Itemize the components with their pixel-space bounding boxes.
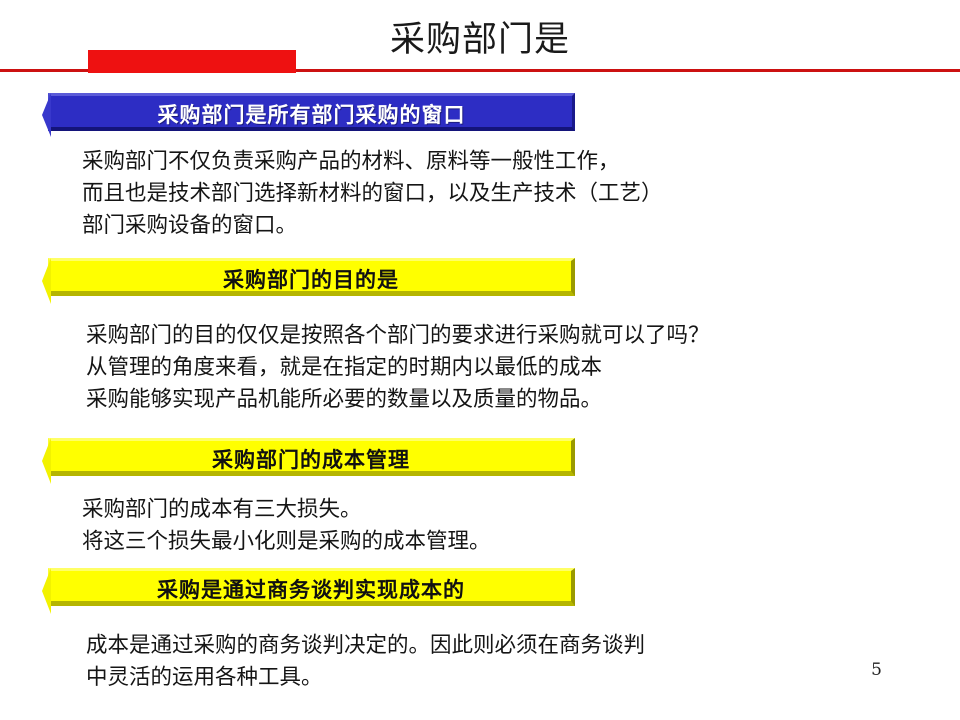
section-banner-2-label: 采购部门的目的是 (51, 261, 571, 299)
slide-canvas: 采购部门是 采购部门是所有部门采购的窗口 采购部门不仅负责采购产品的材料、原料等… (0, 0, 960, 720)
section-banner-1: 采购部门是所有部门采购的窗口 (48, 93, 575, 131)
section-banner-3: 采购部门的成本管理 (48, 438, 575, 476)
section-banner-2: 采购部门的目的是 (48, 258, 575, 296)
section-banner-3-label: 采购部门的成本管理 (51, 441, 571, 479)
section-body-2: 采购部门的目的仅仅是按照各个部门的要求进行采购就可以了吗？ 从管理的角度来看，就… (86, 320, 710, 416)
title-accent-block (88, 50, 296, 73)
section-body-3: 采购部门的成本有三大损失。 将这三个损失最小化则是采购的成本管理。 (82, 494, 491, 558)
section-banner-4: 采购是通过商务谈判实现成本的 (48, 568, 575, 606)
section-body-1: 采购部门不仅负责采购产品的材料、原料等一般性工作， 而且也是技术部门选择新材料的… (82, 146, 663, 242)
section-banner-1-label: 采购部门是所有部门采购的窗口 (51, 96, 572, 134)
page-number: 5 (871, 660, 882, 680)
section-banner-4-label: 采购是通过商务谈判实现成本的 (51, 571, 571, 609)
section-body-4: 成本是通过采购的商务谈判决定的。因此则必须在商务谈判 中灵活的运用各种工具。 (86, 630, 645, 694)
